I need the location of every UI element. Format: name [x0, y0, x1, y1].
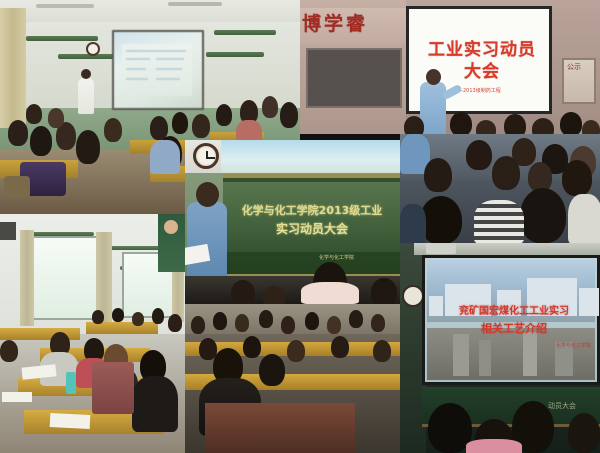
- slide-signature: 化学与化工学院: [556, 342, 591, 349]
- wall-clock-icon: [86, 42, 100, 56]
- audience-head-front: [520, 188, 566, 243]
- photo-collage: 博学睿 公示 工业实习动员 大会 ——2013级制药工程: [0, 0, 600, 453]
- slide-text-line1: 化学与化工学院2013级工业: [227, 202, 397, 218]
- light-tube: [214, 30, 276, 35]
- student-head: [30, 126, 52, 156]
- ceiling-fan-icon: [36, 4, 94, 8]
- audience-torso: [400, 204, 426, 243]
- student-head: [152, 308, 164, 324]
- student-head: [259, 310, 273, 328]
- student-head: [76, 130, 100, 164]
- student-head: [26, 104, 42, 124]
- audience-torso: [466, 439, 522, 453]
- water-bottle: [66, 372, 76, 394]
- wall-clock-icon: [402, 285, 424, 307]
- curtain: [20, 230, 34, 326]
- student-head: [112, 308, 124, 322]
- student-head: [8, 120, 28, 146]
- green-blackboard: 化学与化工学院2013级工业 实习动员大会 化学与化工学院: [223, 174, 400, 278]
- audience-head: [562, 160, 592, 196]
- ceiling-fan-2-icon: [168, 2, 222, 6]
- wall-banner-text: 博学睿: [302, 9, 406, 36]
- student-head: [92, 310, 104, 324]
- wooden-podium: [205, 403, 355, 453]
- student-head: [243, 336, 261, 358]
- front-row-shadow: [185, 276, 400, 304]
- audience-head: [532, 118, 554, 134]
- dark-blackboard: [306, 48, 402, 108]
- panel-top-right-lecture-hall: 博学睿 公示 工业实习动员 大会 ——2013级制药工程: [300, 0, 600, 134]
- light-tube: [26, 36, 98, 41]
- audience-head: [476, 120, 496, 134]
- student-head: [48, 108, 64, 128]
- adjacent-photo-head: [164, 220, 178, 234]
- papers: [50, 413, 91, 429]
- wall-clock-icon: [193, 143, 219, 169]
- student-head: [327, 316, 341, 334]
- student-head: [192, 114, 210, 138]
- student-head: [331, 336, 349, 358]
- audience-head: [466, 140, 492, 170]
- slide-signature: 化学与化工学院: [319, 254, 397, 261]
- student-head: [213, 312, 227, 330]
- panel-center-blackboard: 化学与化工学院2013级工业 实习动员大会 化学与化工学院: [185, 140, 400, 304]
- bag: [4, 176, 30, 198]
- slide-title-line1: 兖矿国宏煤化工工业实习: [425, 302, 600, 317]
- student-head: [216, 104, 232, 126]
- projected-desktop-window: [122, 44, 192, 96]
- student-head: [287, 340, 305, 362]
- audience-head: [404, 116, 424, 134]
- student-head: [104, 118, 122, 142]
- audience-head-front: [420, 196, 462, 243]
- audience-head: [568, 413, 600, 453]
- student-head: [349, 310, 363, 328]
- papers: [2, 392, 32, 402]
- light-tube: [206, 52, 264, 57]
- slide-title-line2: 相关工艺介绍: [425, 320, 600, 336]
- student-head: [281, 316, 295, 334]
- projection-screen: 兖矿国宏煤化工工业实习 相关工艺介绍 化学与化工学院: [422, 255, 600, 385]
- wall-poster: 公示: [562, 58, 596, 104]
- audience-head: [371, 278, 397, 304]
- striped-shirt-person: [474, 200, 524, 243]
- student-head: [168, 314, 182, 332]
- audience-head: [231, 280, 255, 304]
- student-torso: [150, 140, 180, 174]
- student-head: [373, 340, 391, 362]
- wall-speaker: [0, 222, 16, 240]
- panel-bottom-center-students: [185, 304, 400, 453]
- student-torso: [132, 376, 178, 432]
- audience-head: [582, 120, 600, 134]
- student-head: [191, 316, 205, 334]
- slide-text-line2: 实习动员大会: [227, 220, 397, 237]
- audience-head: [492, 156, 520, 190]
- panel-bottom-left-classroom: [0, 214, 185, 453]
- projection-screen: [112, 30, 204, 110]
- panel-bottom-right-projection: 兖矿国宏煤化工工业实习 相关工艺介绍 化学与化工学院 动员大会: [400, 243, 600, 453]
- window: [32, 236, 98, 320]
- speaker-figure: [187, 202, 227, 284]
- student-head: [262, 96, 278, 118]
- student-head: [305, 312, 319, 330]
- audience-torso: [568, 194, 600, 243]
- wall-poster-text: 公示: [567, 62, 581, 72]
- student-head: [172, 112, 188, 134]
- panel-mid-right-audience: [400, 134, 600, 243]
- audience-head: [504, 114, 526, 134]
- student-head: [280, 102, 298, 128]
- audience-torso: [301, 282, 359, 304]
- student-head: [0, 340, 18, 362]
- student-head: [132, 312, 144, 326]
- handbag: [92, 362, 134, 414]
- curtain: [0, 8, 26, 128]
- student-head: [259, 354, 285, 386]
- projected-sky-image: [221, 140, 400, 173]
- audience-head: [424, 158, 452, 192]
- audience-head: [560, 112, 582, 134]
- teacher-figure: [78, 78, 94, 114]
- student-head: [371, 314, 385, 332]
- ceiling-projector-icon: [426, 243, 456, 254]
- audience-head: [263, 286, 285, 304]
- chalk-note: 动员大会: [548, 401, 576, 411]
- audience-head: [450, 112, 472, 134]
- notes-paper: [185, 244, 210, 265]
- student-head: [235, 314, 249, 332]
